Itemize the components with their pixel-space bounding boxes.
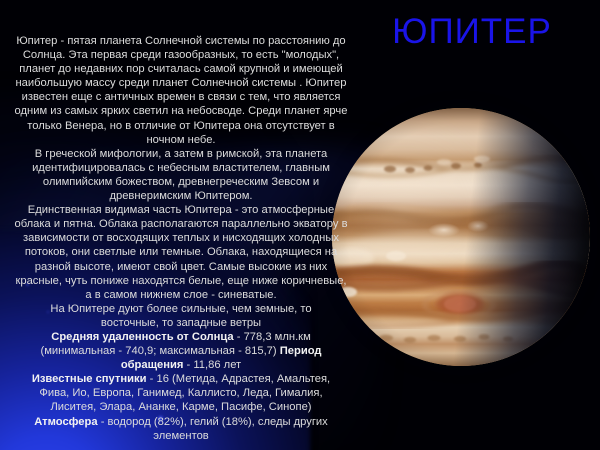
fact-atmosphere: Атмосфера - водород (82%), гелий (18%), … xyxy=(20,415,342,443)
slide-body-text: Юпитер - пятая планета Солнечной системы… xyxy=(6,34,356,443)
fact-separator: - xyxy=(234,331,244,343)
paragraph-winds: На Юпитере дуют более сильные, чем земны… xyxy=(6,302,356,330)
fact-separator: - xyxy=(183,359,193,371)
paragraph-intro: Юпитер - пятая планета Солнечной системы… xyxy=(6,34,356,147)
fact-distance-and-period: Средняя удаленность от Солнца - 778,3 мл… xyxy=(20,330,342,372)
presentation-slide: ЮПИТЕР xyxy=(0,0,600,450)
paragraph-mythology: В греческой мифологии, а затем в римской… xyxy=(6,147,356,203)
fact-separator: - xyxy=(98,416,108,428)
fact-value-period: 11,86 лет xyxy=(193,359,241,371)
fact-label-atmosphere: Атмосфера xyxy=(34,416,97,428)
fact-label-distance: Средняя удаленность от Солнца xyxy=(51,331,233,343)
planet-limb-darkening xyxy=(332,108,590,366)
fact-separator: - xyxy=(147,373,157,385)
slide-title: ЮПИТЕР xyxy=(352,14,592,49)
fact-value-atmosphere: водород (82%), гелий (18%), следы других… xyxy=(108,416,328,442)
fact-label-moons: Известные спутники xyxy=(32,373,147,385)
fact-moons: Известные спутники - 16 (Метида, Адрасте… xyxy=(20,372,342,414)
jupiter-image xyxy=(332,108,590,366)
fact-list: Средняя удаленность от Солнца - 778,3 мл… xyxy=(6,330,356,443)
paragraph-clouds: Единственная видимая часть Юпитера - это… xyxy=(6,203,356,302)
